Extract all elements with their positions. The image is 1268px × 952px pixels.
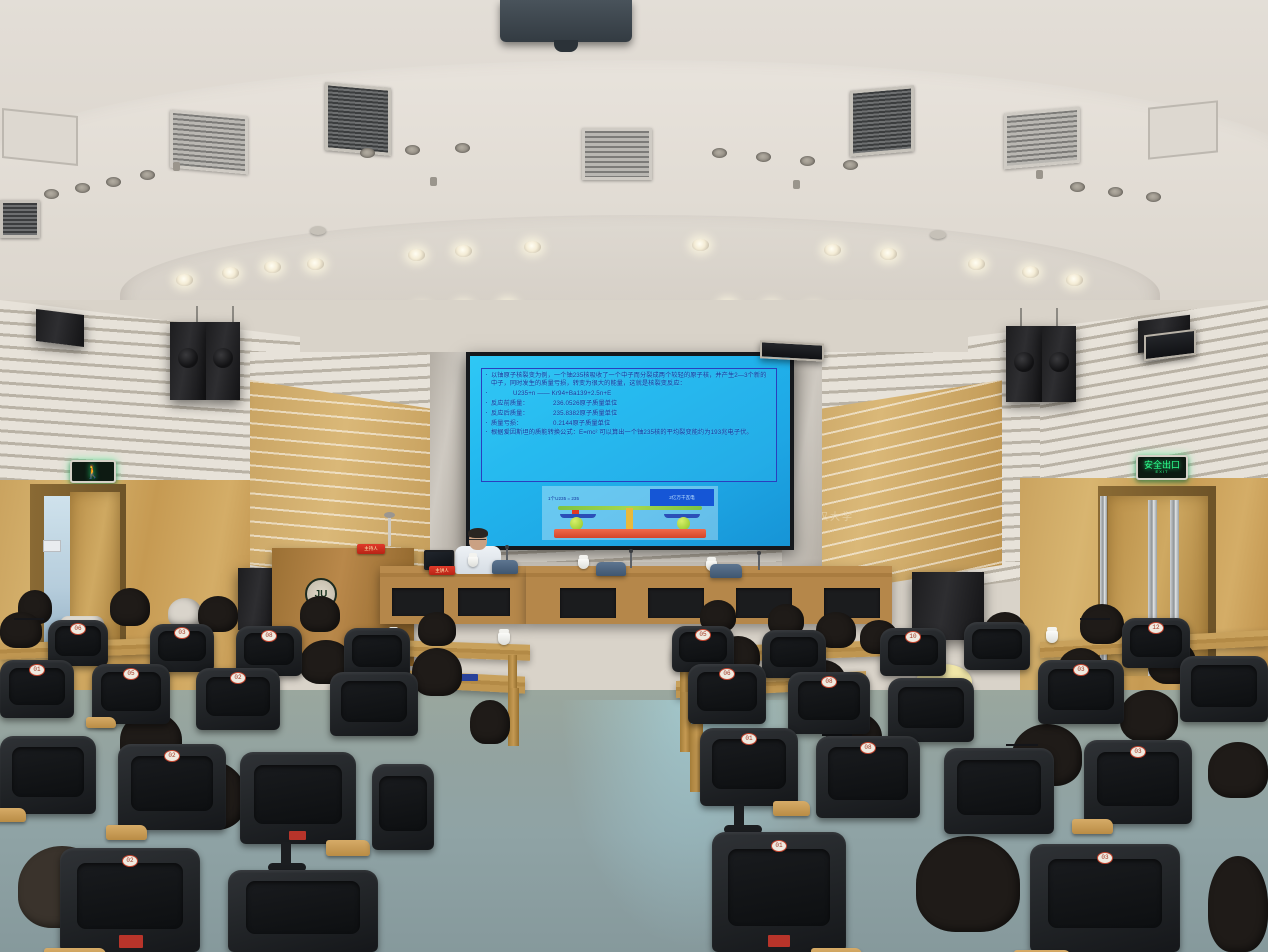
audience-member (418, 612, 456, 646)
mass-before-label: 反应前质量： (491, 400, 553, 408)
seat-number-tag: 05 (123, 668, 139, 680)
auditorium-seat[interactable]: 03 (1038, 660, 1124, 724)
exit-sign-subtext: EXIT (1156, 470, 1169, 474)
sprinkler-head (793, 180, 800, 189)
seat-number-tag: 06 (719, 668, 735, 680)
seat-number-tag: 03 (1130, 746, 1146, 758)
exit-sign-left: 🚶 (70, 460, 116, 483)
recessed-light-off (44, 189, 59, 199)
hvac-diffuser (170, 110, 248, 175)
balance-base (554, 529, 706, 538)
auditorium-seat[interactable] (944, 748, 1054, 834)
recessed-light-off (800, 156, 815, 166)
line-array-speaker-right-b (1042, 326, 1076, 402)
recessed-light-off (106, 177, 121, 187)
auditorium-seat[interactable]: 01 (0, 660, 74, 718)
balance-post (626, 508, 633, 530)
auditorium-seat[interactable] (762, 630, 826, 678)
ceiling-downlight (880, 248, 897, 260)
ceiling-downlight (264, 261, 281, 273)
eyeglasses (14, 618, 44, 625)
auditorium-seat[interactable]: 01 (700, 728, 798, 806)
auditorium-seat[interactable] (0, 736, 96, 814)
teacup (468, 556, 478, 567)
speaker-hanger-wire (1020, 308, 1022, 326)
auditorium-seat[interactable]: 08 (788, 672, 870, 734)
ceiling-downlight (524, 241, 541, 253)
seat-number-tag: 02 (230, 672, 246, 684)
auditorium-seat[interactable]: 01 (712, 832, 846, 952)
projection-screen: 以铀原子核裂变为例，一个铀235核吸收了一个中子而分裂成两个较轻的原子核，并产生… (470, 356, 790, 546)
seat-number-tag: 03 (1097, 852, 1113, 864)
seat-number-tag: 06 (70, 623, 86, 635)
recessed-light-off (1146, 192, 1161, 202)
hvac-return-grille (0, 200, 40, 238)
auditorium-seat[interactable] (1180, 656, 1268, 722)
ceiling-downlight (408, 249, 425, 261)
smoke-detector (310, 226, 326, 235)
ceiling-access-hatch (2, 108, 78, 166)
auditorium-seat[interactable]: 06 (688, 664, 766, 724)
auditorium-seat[interactable]: 08 (816, 736, 920, 818)
line-array-speaker-left-b (206, 322, 240, 400)
slide-equation: U235+n —— Kr94+Ba139+2.5n+E (491, 390, 772, 398)
hvac-diffuser (582, 128, 652, 180)
table-front-panel (648, 588, 704, 618)
audience-member (470, 700, 510, 744)
auditorium-seat[interactable] (330, 672, 418, 736)
balance-left-label: 1个U235 = 235 (548, 496, 579, 502)
auditorium-seat[interactable] (240, 752, 356, 844)
hvac-return-grille (325, 82, 391, 156)
auditorium-seat[interactable]: 02 (118, 744, 226, 830)
auditorium-seat[interactable]: 03 (1030, 844, 1180, 952)
auditorium-seat[interactable]: 10 (880, 628, 946, 676)
ceiling-downlight (1066, 274, 1083, 286)
stage-chair[interactable] (710, 564, 742, 578)
recessed-light-off (405, 145, 420, 155)
recessed-light-off (712, 148, 727, 158)
auditorium-seat[interactable]: 02 (60, 848, 200, 952)
slide-bullet-1: 以铀原子核裂变为例，一个铀235核吸收了一个中子而分裂成两个较轻的原子核，并产生… (491, 372, 772, 389)
seat-number-tag: 05 (695, 629, 711, 641)
recessed-light-off (360, 148, 375, 158)
teacup (1046, 630, 1058, 643)
stage-chair[interactable] (492, 560, 518, 574)
seat-number-tag: 03 (174, 627, 190, 639)
hvac-return-grille (850, 85, 914, 157)
mass-defect-value: 0.2144原子质量单位 (553, 420, 610, 428)
smoke-detector (930, 230, 946, 239)
speaker-left-upper (36, 309, 84, 347)
auditorium-seat[interactable]: 02 (196, 668, 280, 730)
auditorium-seat[interactable]: 05 (92, 664, 170, 724)
seat-number-tag: 08 (860, 742, 876, 754)
exit-sign-right: 安全出口 EXIT (1136, 455, 1188, 480)
teacup (578, 558, 589, 569)
slide-bullet-3: 反应前质量：236.0526原子质量单位 (491, 400, 772, 408)
seat-number-tag: 08 (261, 630, 277, 642)
podium-mic-head (384, 512, 395, 518)
auditorium-seat[interactable] (964, 622, 1030, 670)
ceiling-downlight (455, 245, 472, 257)
table-microphone (630, 552, 632, 568)
ceiling-downlight (176, 274, 193, 286)
slide-bullet-6: 根据爱因斯坦的质能转换公式：E=mc² 可以算出一个铀235核的平均裂变能约为1… (491, 429, 772, 437)
seat-number-tag: 03 (1073, 664, 1089, 676)
wall-monitor-center (760, 340, 824, 361)
slide-bullet-5: 质量亏损：0.2144原子质量单位 (491, 420, 772, 428)
sprinkler-head (430, 177, 437, 186)
presenter-hair (468, 528, 488, 538)
audience-member (110, 588, 150, 626)
recessed-light-off (75, 183, 90, 193)
balance-badge: 2亿万千瓦电 (650, 489, 714, 506)
mass-defect-label: 质量亏损： (491, 420, 553, 428)
projection-screen-frame: 以铀原子核裂变为例，一个铀235核吸收了一个中子而分裂成两个较轻的原子核，并产生… (466, 352, 794, 550)
mass-after-label: 反应后质量： (491, 410, 553, 418)
wall-notice-plate (43, 540, 61, 552)
audience-member (412, 648, 462, 696)
presenter-glasses (469, 539, 486, 543)
speaker-hanger-wire (1056, 308, 1058, 326)
seat-number-tag: 01 (771, 840, 787, 852)
audience-member (916, 836, 1020, 932)
seat-number-tag: 10 (905, 631, 921, 643)
audience-member (1208, 856, 1268, 952)
slide-bullet-4: 反应后质量：235.8382原子质量单位 (491, 410, 772, 418)
auditorium-seat[interactable] (228, 870, 378, 952)
auditorium-seat[interactable] (888, 678, 974, 742)
audience-member (1208, 742, 1268, 798)
hvac-diffuser (1004, 107, 1080, 170)
ceiling-downlight (307, 258, 324, 270)
podium-mic-stand (388, 516, 391, 546)
ceiling-access-hatch (1148, 100, 1218, 159)
table-front-panel (560, 588, 616, 618)
ceiling-downlight (824, 244, 841, 256)
eyeglasses (1080, 618, 1110, 625)
line-array-speaker-left-a (170, 322, 206, 400)
ceiling-downlight (1022, 266, 1039, 278)
teacup (498, 632, 510, 645)
seat-number-tag: 02 (164, 750, 180, 762)
auditorium-seat[interactable] (344, 628, 410, 678)
sprinkler-head (1036, 170, 1043, 179)
auditorium-seat[interactable]: 03 (1084, 740, 1192, 824)
recessed-light-off (1108, 187, 1123, 197)
speaker-nameplate: 主讲人 (429, 566, 455, 575)
mass-after-value: 235.8382原子质量单位 (553, 410, 617, 418)
seat-number-tag: 02 (122, 855, 138, 867)
ceiling-downlight (692, 239, 709, 251)
audience-member (300, 596, 340, 632)
lecture-hall-photo: 江汉大学 以铀原子核裂变为例，一个铀235核吸收了一个中子而分裂成两个较轻的原子… (0, 0, 1268, 952)
sprinkler-head (173, 162, 180, 171)
recessed-light-off (756, 152, 771, 162)
ceiling-projector (500, 0, 632, 42)
recessed-light-off (455, 143, 470, 153)
table-front-panel (458, 588, 510, 616)
line-array-speaker-right-a (1006, 326, 1042, 402)
podium-nameplate: 主持人 (357, 544, 385, 554)
recessed-light-off (140, 170, 155, 180)
seat-number-tag: 01 (741, 733, 757, 745)
recessed-light-off (843, 160, 858, 170)
ceiling-downlight (222, 267, 239, 279)
auditorium-seat[interactable] (372, 764, 434, 850)
stage-chair[interactable] (596, 562, 626, 576)
seat-number-tag: 01 (29, 664, 45, 676)
mass-before-value: 236.0526原子质量单位 (553, 400, 617, 408)
slide-text-box: 以铀原子核裂变为例，一个铀235核吸收了一个中子而分裂成两个较轻的原子核，并产生… (481, 368, 777, 482)
slide-bullet-list: 以铀原子核裂变为例，一个铀235核吸收了一个中子而分裂成两个较轻的原子核，并产生… (482, 369, 776, 438)
table-microphone (758, 554, 760, 570)
slide-balance-figure: 1个U235 = 235 2亿万千瓦电 (542, 486, 718, 540)
seat-number-tag: 12 (1148, 622, 1164, 634)
recessed-light-off (1070, 182, 1085, 192)
seat-number-tag: 08 (821, 676, 837, 688)
running-man-icon: 🚶 (85, 464, 101, 480)
ceiling-downlight (968, 258, 985, 270)
audience-member (1120, 690, 1178, 742)
